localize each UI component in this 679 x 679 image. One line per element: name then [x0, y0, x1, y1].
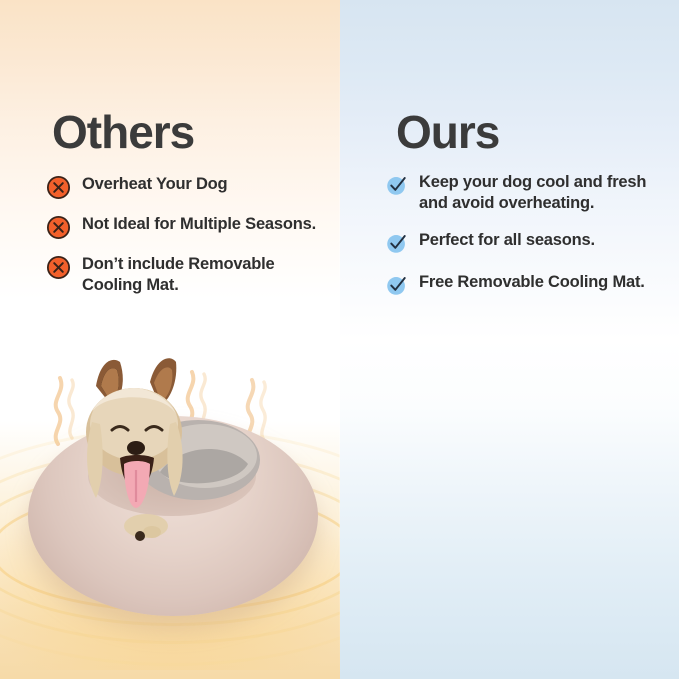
- list-item-label: Perfect for all seasons.: [419, 230, 595, 251]
- comparison-infographic: Others Overheat Your Dog: [0, 0, 679, 679]
- panel-ours: Ours Keep your dog cool and fresh and av…: [340, 0, 679, 679]
- list-item: Don’t include Removable Cooling Mat.: [46, 254, 334, 295]
- list-item: Overheat Your Dog: [46, 174, 334, 200]
- list-item: Not Ideal for Multiple Seasons.: [46, 214, 334, 240]
- panel-divider: [339, 0, 340, 679]
- check-circle-icon: [385, 231, 409, 255]
- check-circle-icon: [385, 273, 409, 297]
- list-item: Perfect for all seasons.: [385, 230, 670, 255]
- product-photo-others: Yorkshire terrier panting in a taupe plu…: [0, 340, 340, 679]
- list-item: Free Removable Cooling Mat.: [385, 272, 670, 297]
- panel-others: Others Overheat Your Dog: [0, 0, 340, 679]
- list-item-label: Free Removable Cooling Mat.: [419, 272, 645, 293]
- dog-yorkshire-terrier: [0, 340, 340, 679]
- benefit-list-others: Overheat Your Dog Not Ideal for Multiple…: [46, 174, 334, 295]
- cross-circle-icon: [46, 255, 71, 280]
- list-item-label: Don’t include Removable Cooling Mat.: [82, 254, 334, 295]
- list-item-label: Not Ideal for Multiple Seasons.: [82, 214, 316, 235]
- page-title-ours: Ours: [396, 108, 499, 156]
- cross-circle-icon: [46, 175, 71, 200]
- list-item: Keep your dog cool and fresh and avoid o…: [385, 172, 670, 213]
- list-item-label: Overheat Your Dog: [82, 174, 227, 195]
- page-title-others: Others: [52, 108, 194, 156]
- list-item-label: Keep your dog cool and fresh and avoid o…: [419, 172, 670, 213]
- benefit-list-ours: Keep your dog cool and fresh and avoid o…: [385, 172, 670, 314]
- check-circle-icon: [385, 173, 409, 197]
- cross-circle-icon: [46, 215, 71, 240]
